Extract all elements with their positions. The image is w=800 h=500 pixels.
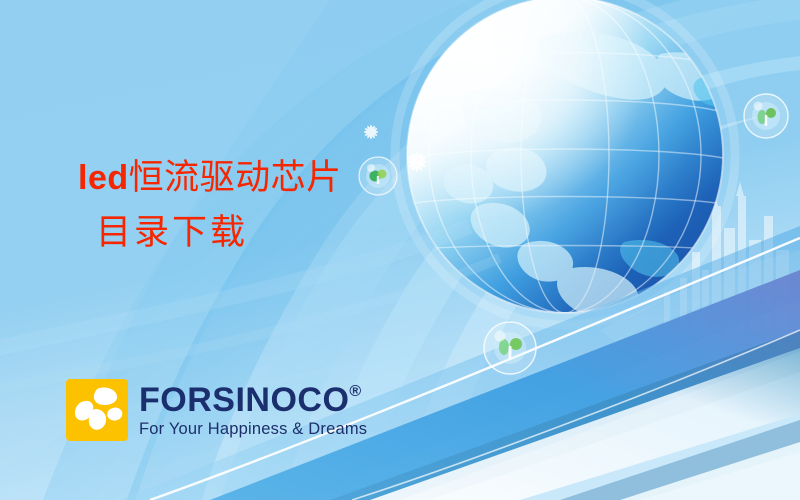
bubble-globe-icon — [744, 94, 788, 138]
brand-logo[interactable]: FORSINOCO® For Your Happiness & Dreams — [66, 379, 367, 441]
pinwheel-flower-icon — [66, 379, 128, 441]
bubble-globe-icon — [359, 157, 397, 195]
registered-trademark-icon: ® — [349, 384, 361, 400]
promotional-banner: led恒流驱动芯片 目录下载 FORSINOCO® For Your Happi… — [0, 0, 800, 500]
promo-title-cjk: 恒流驱动芯片 — [129, 158, 342, 197]
bubble-sprout-icon — [484, 322, 536, 374]
logo-tagline: For Your Happiness & Dreams — [139, 421, 367, 438]
promo-title: led恒流驱动芯片 目录下载 — [78, 160, 342, 250]
logo-text-block: FORSINOCO® For Your Happiness & Dreams — [139, 383, 367, 438]
logo-brand-name: FORSINOCO — [139, 383, 349, 417]
promo-title-line-1: led恒流驱动芯片 — [78, 160, 342, 195]
promo-title-latin: led — [78, 159, 129, 197]
promo-title-line-2: 目录下载 — [96, 215, 342, 250]
logo-wordmark: FORSINOCO® — [139, 383, 367, 417]
